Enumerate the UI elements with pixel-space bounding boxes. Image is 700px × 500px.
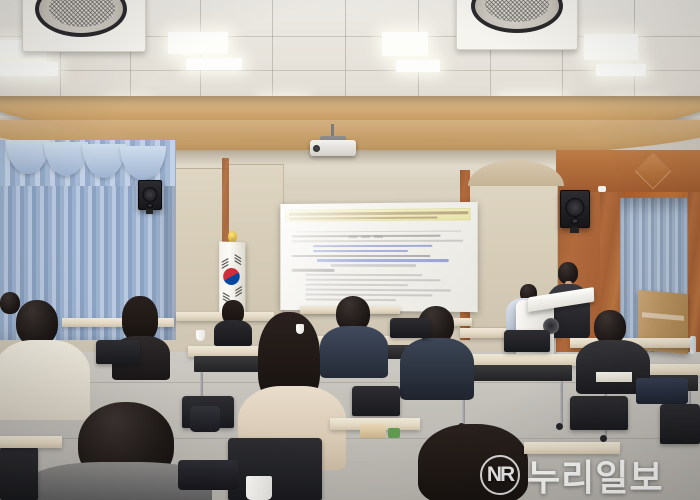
paper-cup	[296, 324, 304, 334]
chair-backrest	[228, 438, 322, 500]
loudspeaker-right	[560, 190, 590, 228]
chair-backrest	[96, 340, 140, 364]
seminar-desk	[0, 436, 62, 448]
speaker-bracket-right	[570, 227, 579, 233]
speaker-bracket-left	[146, 209, 153, 214]
audience-member-body	[320, 326, 388, 378]
slide-body-text	[292, 235, 467, 305]
chair-backrest	[352, 386, 400, 416]
led-panel	[382, 32, 428, 56]
projection-screen	[280, 202, 477, 312]
sensor-icon	[598, 186, 606, 192]
chair-backrest	[390, 318, 430, 338]
led-panel	[0, 62, 58, 76]
slide-subtitle	[348, 225, 404, 229]
paper-cup	[196, 330, 205, 341]
water-bottle	[690, 336, 696, 354]
chair-backrest	[504, 330, 550, 352]
watermark-publisher: 누리일보	[527, 449, 663, 500]
snack-item	[388, 428, 400, 438]
watermark: NR 누리일보	[480, 452, 695, 498]
snack-item	[360, 424, 386, 438]
jacket-on-chair	[636, 378, 688, 404]
taeguk-symbol-icon	[220, 265, 242, 288]
loudspeaker-left	[138, 180, 162, 210]
air-conditioner-unit	[456, 0, 578, 50]
audience-member-body	[400, 338, 474, 400]
chair-backrest	[0, 446, 38, 500]
wall-wood-right-trim	[556, 150, 700, 192]
circle-monogram-icon: NR	[480, 455, 520, 495]
led-panel	[186, 58, 242, 70]
led-panel	[596, 64, 646, 76]
air-conditioner-unit	[22, 0, 146, 52]
audience-member-body	[214, 320, 252, 346]
photo-scene: NR 누리일보	[0, 0, 700, 500]
paper-cup	[246, 476, 272, 500]
led-panel	[396, 60, 440, 72]
led-panel	[168, 32, 228, 54]
chair-backrest	[660, 404, 700, 444]
audience-member-body	[0, 340, 90, 420]
slide-divider	[296, 231, 461, 233]
notebook	[596, 372, 632, 382]
bag	[190, 406, 220, 432]
led-panel	[584, 34, 638, 60]
bag	[178, 460, 238, 490]
slide-title-banner	[285, 208, 470, 222]
projector-lens-icon	[313, 145, 320, 152]
chair-backrest	[570, 396, 628, 430]
audience-member-head	[594, 310, 626, 344]
audience-member-head	[0, 292, 20, 314]
